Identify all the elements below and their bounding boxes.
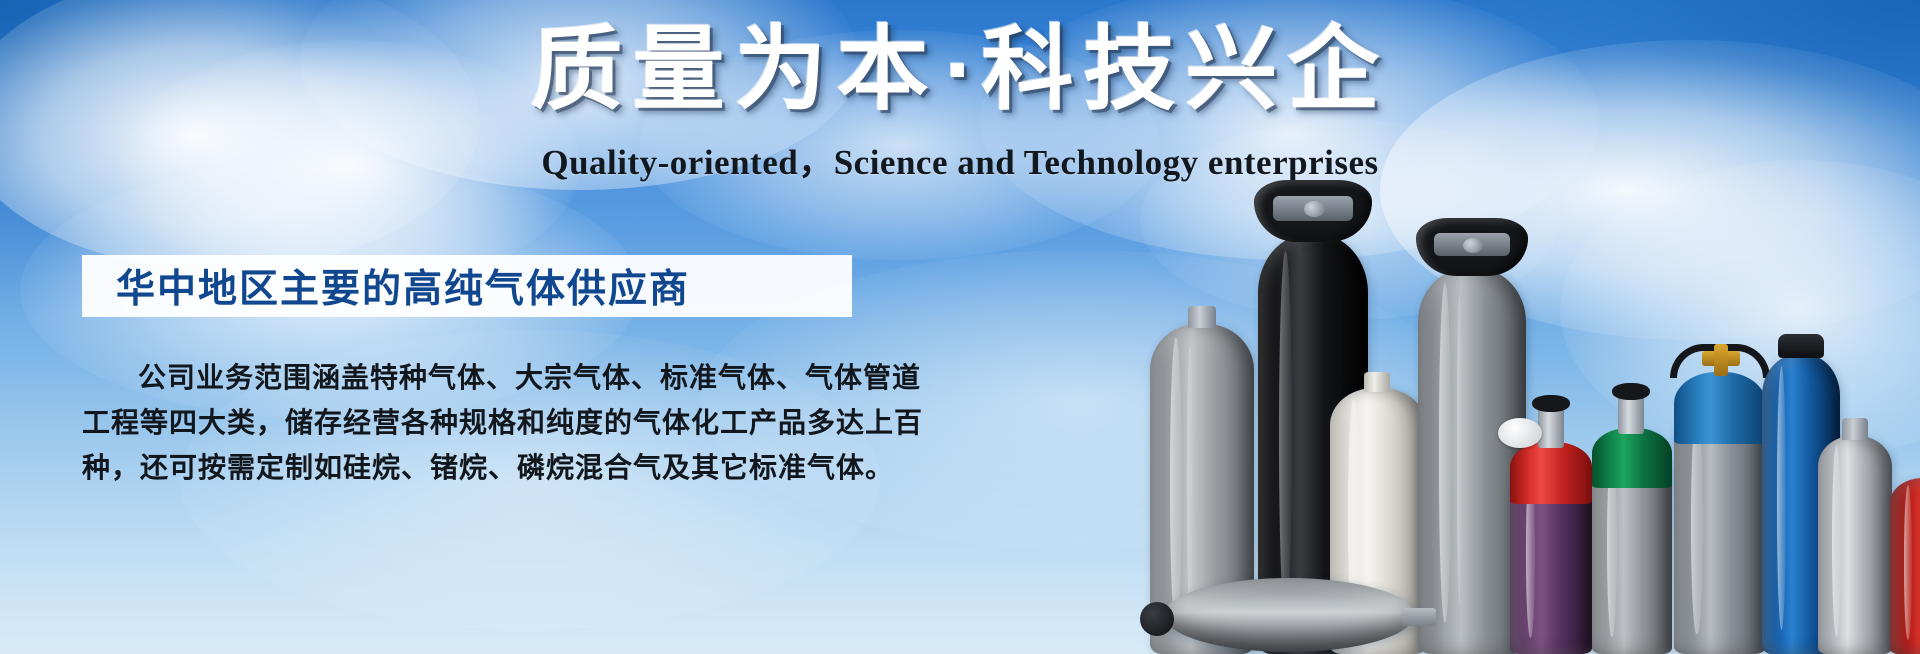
promo-banner: 质量为本·科技兴企 Quality-oriented，Science and T…	[0, 0, 1920, 654]
cylinder-cap	[1778, 334, 1824, 358]
cylinder-highlight	[1439, 283, 1452, 623]
dark-red-cylinder	[1890, 478, 1920, 654]
cylinder-highlight	[1187, 347, 1192, 611]
valve-knob	[1532, 395, 1570, 412]
body-line: 公司业务范围涵盖特种气体、大宗气体、标准气体、气体管道	[82, 356, 872, 401]
cylinder-valve	[1538, 408, 1564, 448]
cylinder-valve-guard	[1254, 180, 1372, 242]
green-cylinder-shoulder	[1592, 428, 1672, 488]
tank-neck	[1402, 608, 1436, 626]
headline-part-2: 科技兴企	[981, 19, 1389, 121]
aluminium-cylinder	[1818, 436, 1892, 654]
cylinder-valve-guard	[1416, 218, 1528, 276]
guard-knob	[1463, 238, 1483, 253]
cylinder-neck	[1364, 372, 1390, 392]
blue-cylinder-shoulder	[1674, 372, 1766, 444]
cylinder-highlight	[1832, 445, 1841, 637]
slogan-box: 华中地区主要的高纯气体供应商	[82, 255, 852, 317]
body-line: 种，还可按需定制如硅烷、锗烷、磷烷混合气及其它标准气体。	[82, 446, 872, 491]
cylinder-highlight	[1777, 366, 1786, 630]
slogan-text: 华中地区主要的高纯气体供应商	[82, 258, 690, 314]
cylinder-highlight	[1904, 485, 1913, 640]
body-copy: 公司业务范围涵盖特种气体、大宗气体、标准气体、气体管道 工程等四大类，储存经营各…	[82, 356, 872, 491]
cylinder-highlight	[1457, 295, 1462, 604]
red-cylinder-shoulder	[1510, 442, 1592, 504]
brass-valve-icon	[1714, 344, 1728, 376]
banner-headline: 质量为本·科技兴企	[0, 22, 1920, 119]
cylinder-neck	[1842, 418, 1868, 440]
guard-knob	[1304, 201, 1325, 217]
headline-separator: ·	[939, 19, 982, 121]
grey-horizontal-tank	[1164, 578, 1414, 652]
pressure-gauge-icon	[1498, 418, 1542, 448]
cylinder-highlight	[1170, 337, 1182, 627]
tank-valve-icon	[1140, 602, 1174, 636]
valve-knob	[1612, 383, 1650, 400]
body-line: 工程等四大类，储存经营各种规格和纯度的气体化工产品多达上百	[82, 401, 872, 446]
cylinder-neck	[1188, 306, 1216, 328]
gas-cylinder-group	[1150, 150, 1920, 654]
headline-part-1: 质量为本	[531, 19, 939, 121]
cylinder-highlight	[1279, 251, 1292, 621]
cylinder-highlight	[1691, 414, 1702, 634]
cylinder-valve	[1618, 396, 1644, 434]
